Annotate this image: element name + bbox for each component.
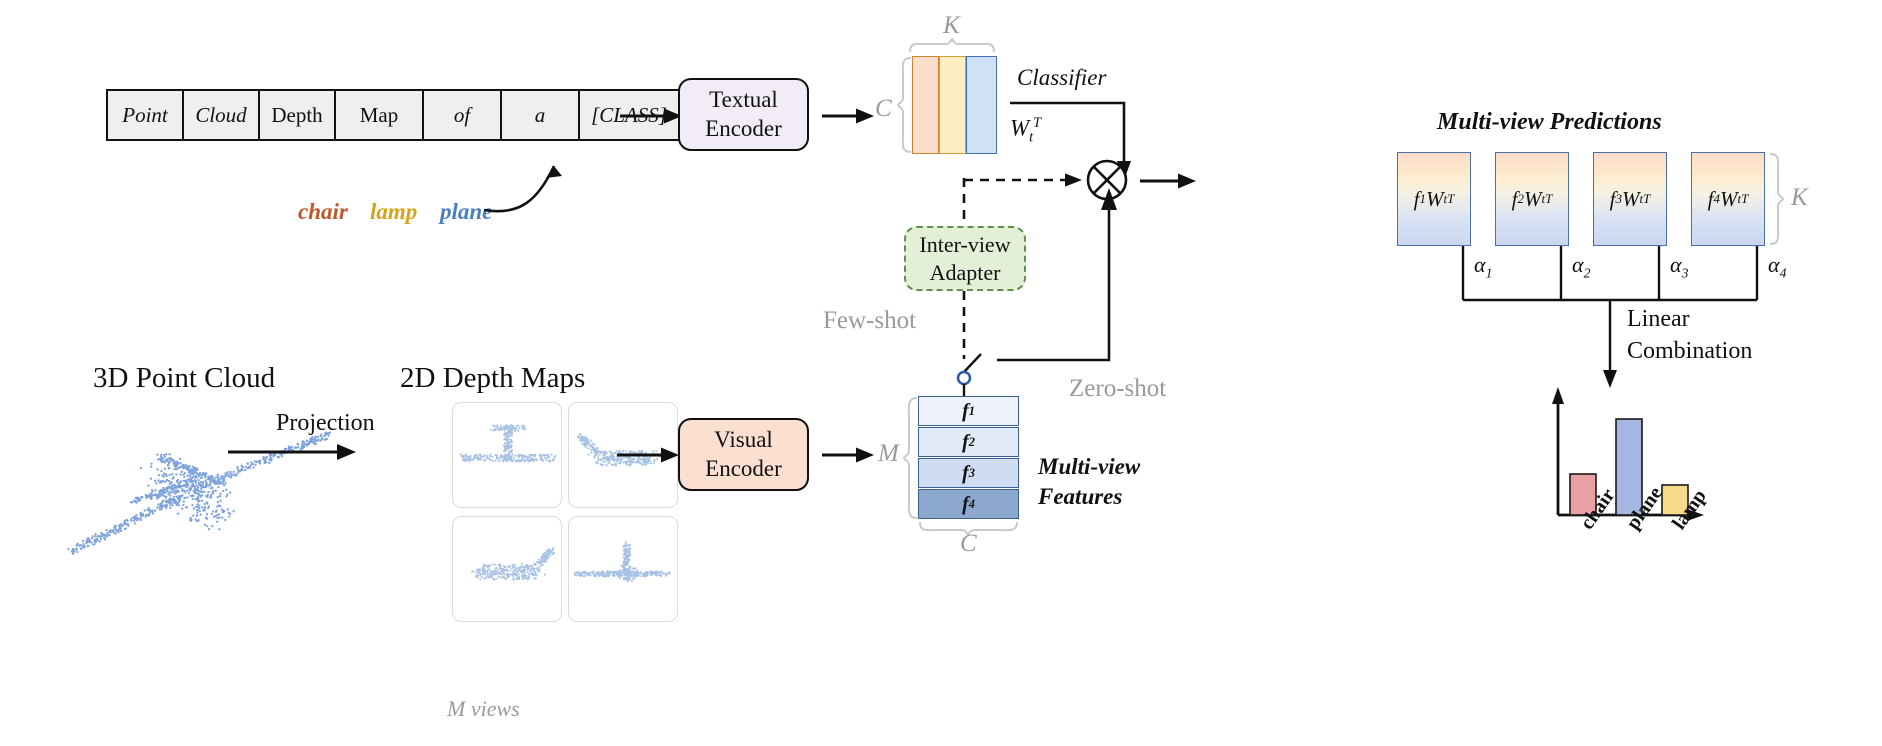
classifier-matrix	[912, 56, 997, 154]
classifier-column-0	[912, 56, 939, 154]
depth-map-thumb-3[interactable]	[452, 516, 562, 622]
arrow-projection-icon	[228, 441, 356, 463]
arrow-prompt-to-textual-encoder-icon	[620, 105, 682, 127]
prediction-box-3: f3WtT	[1593, 152, 1667, 246]
textual-encoder-box[interactable]: Textual Encoder	[678, 78, 809, 151]
visual-encoder-box[interactable]: Visual Encoder	[678, 418, 809, 491]
visual-encoder-line2: Encoder	[705, 455, 782, 484]
feature-box-3: f3	[918, 458, 1019, 488]
classifier-dim-C-label: C	[875, 95, 892, 123]
mv-features-line2: Features	[1038, 482, 1140, 512]
alpha-label-4: α4	[1768, 252, 1786, 281]
feature-box-2: f2	[918, 427, 1019, 457]
class-word-chair[interactable]: chair	[298, 199, 348, 225]
class-word-lamp[interactable]: lamp	[370, 199, 417, 225]
prediction-bar-chart: chairplanelamp	[1540, 385, 1730, 565]
textual-encoder-line2: Encoder	[705, 115, 782, 144]
prediction-box-2: f2WtT	[1495, 152, 1569, 246]
brace-right-K-icon	[1768, 152, 1784, 246]
linear-combination-line1: Linear	[1627, 303, 1752, 335]
arrow-visual-encoder-to-features-icon	[822, 444, 874, 466]
arrow-textual-encoder-to-classifier-icon	[822, 105, 874, 127]
bar-chart-axes-icon	[1540, 385, 1730, 565]
zero-shot-label: Zero-shot	[1069, 375, 1166, 403]
alpha-label-1: α1	[1474, 252, 1492, 281]
multi-view-features-caption: Multi-view Features	[1038, 452, 1140, 512]
linear-combination-caption: Linear Combination	[1627, 303, 1752, 368]
classifier-label: Classifier	[1017, 65, 1106, 91]
multi-view-feature-stack: f1f2f3f4	[918, 396, 1019, 519]
classifier-dim-K-label: K	[943, 12, 960, 40]
depth-maps-title: 2D Depth Maps	[400, 362, 585, 395]
feature-box-1: f1	[918, 396, 1019, 426]
predictions-dim-K-label: K	[1791, 184, 1808, 212]
features-dim-M-label: M	[878, 440, 899, 468]
adapter-line2: Adapter	[930, 259, 1001, 287]
mv-features-line1: Multi-view	[1038, 452, 1140, 482]
multi-view-predictions-title: Multi-view Predictions	[1437, 109, 1662, 136]
feature-box-4: f4	[918, 489, 1019, 519]
visual-encoder-line1: Visual	[714, 426, 773, 455]
alpha-label-2: α2	[1572, 252, 1590, 281]
brace-left-C-icon	[897, 56, 913, 154]
brace-left-M-icon	[903, 396, 919, 520]
projection-label: Projection	[276, 410, 375, 437]
textual-encoder-line1: Textual	[709, 86, 778, 115]
prompt-token-2[interactable]: Depth	[260, 91, 336, 139]
prompt-token-0[interactable]: Point	[108, 91, 184, 139]
arrow-depthmaps-to-visual-encoder-icon	[617, 444, 679, 466]
depth-map-thumb-1[interactable]	[452, 402, 562, 508]
alpha-label-3: α3	[1670, 252, 1688, 281]
classifier-column-1	[939, 56, 966, 154]
prompt-token-1[interactable]: Cloud	[184, 91, 260, 139]
features-dim-C-label: C	[960, 530, 977, 558]
prediction-box-4: f4WtT	[1691, 152, 1765, 246]
few-shot-label: Few-shot	[823, 307, 916, 335]
classifier-column-2	[966, 56, 997, 154]
arrow-multiply-to-predictions-icon	[1140, 170, 1196, 192]
zero-shot-path-icon	[995, 186, 1125, 366]
brace-top-K-icon	[908, 38, 996, 54]
point-cloud-title: 3D Point Cloud	[93, 362, 275, 395]
m-views-label: M views	[447, 696, 520, 722]
class-to-prompt-curve-icon	[480, 130, 610, 220]
prediction-box-1: f1WtT	[1397, 152, 1471, 246]
prompt-token-3[interactable]: Map	[336, 91, 424, 139]
linear-combination-line2: Combination	[1627, 335, 1752, 367]
depth-map-thumb-4[interactable]	[568, 516, 678, 622]
